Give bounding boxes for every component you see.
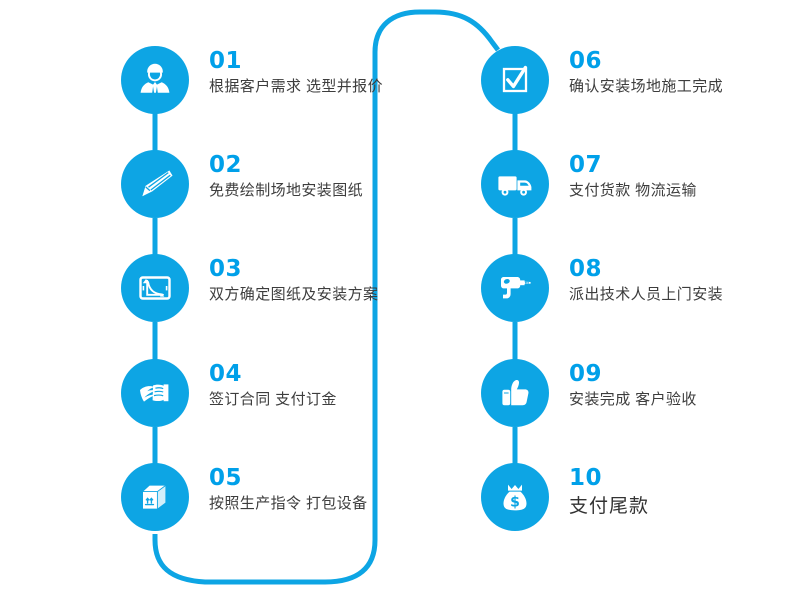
- step-07-number: 07: [569, 152, 697, 178]
- step-06-text: 06 确认安装场地施工完成: [569, 48, 723, 98]
- step-02-bubble[interactable]: [121, 150, 189, 218]
- step-09-bubble[interactable]: [481, 359, 549, 427]
- step-06-label: 确认安装场地施工完成: [569, 76, 723, 98]
- step-06-bubble[interactable]: [481, 46, 549, 114]
- step-04-bubble[interactable]: [121, 359, 189, 427]
- step-04-label: 签订合同 支付订金: [209, 389, 337, 411]
- step-03-text: 03 双方确定图纸及安装方案: [209, 256, 378, 306]
- pencil-icon: [135, 164, 175, 204]
- svg-text:$: $: [510, 494, 520, 510]
- step-02-text: 02 免费绘制场地安装图纸: [209, 152, 363, 202]
- step-08-text: 08 派出技术人员上门安装: [569, 256, 723, 306]
- step-03-label: 双方确定图纸及安装方案: [209, 284, 378, 306]
- infographic-canvas: 01 根据客户需求 选型并报价 02 免费绘制场地安装图纸: [0, 0, 800, 604]
- tablet-drawing-icon: [135, 268, 175, 308]
- businessman-icon: [136, 61, 174, 99]
- step-10-number: 10: [569, 465, 649, 491]
- step-03-bubble[interactable]: [121, 254, 189, 322]
- money-bag-icon: $: [495, 477, 535, 517]
- step-01-label: 根据客户需求 选型并报价: [209, 76, 383, 98]
- delivery-truck-icon: [494, 163, 536, 205]
- hand-signing-icon: [135, 373, 175, 413]
- step-03-number: 03: [209, 256, 378, 282]
- step-06-number: 06: [569, 48, 723, 74]
- step-07-bubble[interactable]: [481, 150, 549, 218]
- step-04-number: 04: [209, 361, 337, 387]
- step-02-number: 02: [209, 152, 363, 178]
- package-box-icon: [135, 477, 175, 517]
- step-08-number: 08: [569, 256, 723, 282]
- checkbox-check-icon: [495, 60, 535, 100]
- step-09-label: 安装完成 客户验收: [569, 389, 697, 411]
- step-02-label: 免费绘制场地安装图纸: [209, 180, 363, 202]
- thumbs-up-icon: [495, 373, 535, 413]
- step-01-bubble[interactable]: [121, 46, 189, 114]
- connector-top-arc: [375, 12, 498, 120]
- step-10-bubble[interactable]: $: [481, 463, 549, 531]
- step-10-label: 支付尾款: [569, 494, 649, 518]
- step-05-bubble[interactable]: [121, 463, 189, 531]
- step-09-text: 09 安装完成 客户验收: [569, 361, 697, 411]
- step-08-label: 派出技术人员上门安装: [569, 284, 723, 306]
- step-08-bubble[interactable]: [481, 254, 549, 322]
- step-10-text: 10 支付尾款: [569, 465, 649, 518]
- step-05-label: 按照生产指令 打包设备: [209, 493, 368, 515]
- step-05-number: 05: [209, 465, 368, 491]
- step-04-text: 04 签订合同 支付订金: [209, 361, 337, 411]
- step-07-label: 支付货款 物流运输: [569, 180, 697, 202]
- step-01-number: 01: [209, 48, 383, 74]
- power-drill-icon: [494, 267, 536, 309]
- step-05-text: 05 按照生产指令 打包设备: [209, 465, 368, 515]
- step-07-text: 07 支付货款 物流运输: [569, 152, 697, 202]
- step-01-text: 01 根据客户需求 选型并报价: [209, 48, 383, 98]
- step-09-number: 09: [569, 361, 697, 387]
